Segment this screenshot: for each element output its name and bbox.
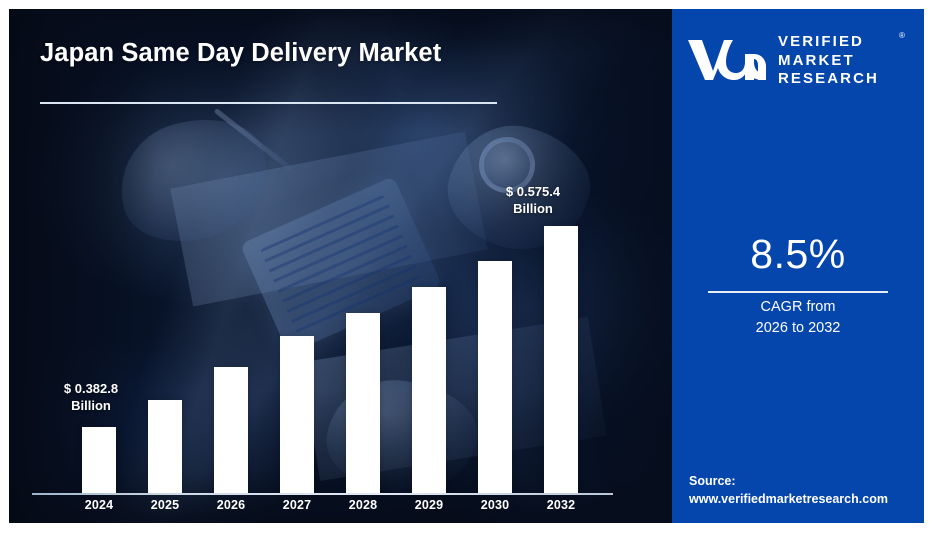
source-label: Source:	[689, 472, 921, 490]
bar-2030	[478, 261, 512, 493]
bar-2029	[412, 287, 446, 493]
cagr-value: 8.5%	[672, 231, 924, 278]
logo-line-verified: VERIFIED	[778, 33, 918, 52]
bar-2026	[214, 367, 248, 493]
cagr-caption-line2: 2026 to 2032	[672, 318, 924, 339]
vmr-logo: VERIFIED MARKET RESEARCH ®	[686, 31, 914, 93]
bar-2028	[346, 313, 380, 493]
side-panel: VERIFIED MARKET RESEARCH ® 8.5% CAGR fro…	[672, 9, 924, 523]
vmr-logo-text: VERIFIED MARKET RESEARCH	[778, 33, 918, 89]
cagr-divider	[708, 291, 888, 293]
x-tick-2025: 2025	[132, 498, 198, 512]
x-tick-2028: 2028	[330, 498, 396, 512]
bar-2032	[544, 226, 578, 493]
bar-2024	[82, 427, 116, 493]
logo-line-market: MARKET	[778, 52, 918, 71]
x-tick-2024: 2024	[66, 498, 132, 512]
x-tick-2027: 2027	[264, 498, 330, 512]
vmr-logo-icon	[686, 35, 770, 85]
cagr-caption-line1: CAGR from	[672, 297, 924, 318]
data-label-last: $ 0.575.4 Billion	[458, 183, 608, 217]
x-tick-2029: 2029	[396, 498, 462, 512]
data-label-first-value: $ 0.382.8	[16, 380, 166, 397]
data-label-last-value: $ 0.575.4	[458, 183, 608, 200]
bar-2027	[280, 336, 314, 493]
cagr-caption: CAGR from 2026 to 2032	[672, 297, 924, 339]
logo-line-research: RESEARCH	[778, 70, 918, 89]
registered-trademark-icon: ®	[899, 31, 905, 40]
data-label-last-unit: Billion	[458, 200, 608, 217]
data-label-first-unit: Billion	[16, 397, 166, 414]
data-label-first: $ 0.382.8 Billion	[16, 380, 166, 414]
bar-chart: 20242025202620272028202920302032 $ 0.382…	[9, 9, 672, 523]
chart-panel: Japan Same Day Delivery Market 202420252…	[9, 9, 672, 523]
infographic-card: Japan Same Day Delivery Market 202420252…	[9, 9, 924, 523]
x-axis-line	[32, 493, 613, 495]
source-block: Source: www.verifiedmarketresearch.com	[689, 472, 921, 508]
x-tick-2026: 2026	[198, 498, 264, 512]
source-url[interactable]: www.verifiedmarketresearch.com	[689, 490, 921, 508]
x-tick-2030: 2030	[462, 498, 528, 512]
x-tick-2032: 2032	[528, 498, 594, 512]
